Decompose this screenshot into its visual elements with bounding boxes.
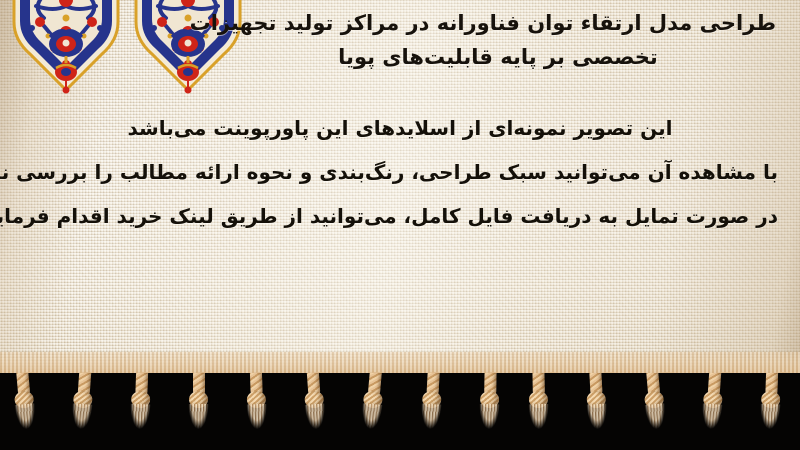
carpet-fringe: [0, 373, 800, 450]
fringe-tassel: [6, 373, 42, 442]
tassel-skirt: [477, 404, 501, 440]
tassel-skirt: [527, 404, 551, 440]
tassel-skirt: [245, 404, 269, 441]
fringe-tassel: [755, 373, 788, 442]
slide-canvas: طراحی مدل ارتقاء توان فناورانه در مراکز …: [0, 0, 800, 450]
fringe-tassel: [184, 373, 214, 441]
fringe-tassel: [415, 373, 449, 442]
tassel-skirt: [303, 403, 328, 441]
body-line-3: در صورت تمایل به دریافت فایل کامل، می‌تو…: [22, 194, 778, 238]
fringe-tassel: [523, 373, 554, 441]
fringe-tassel: [65, 373, 100, 442]
tassel-skirt: [585, 403, 610, 440]
fringe-tassel: [355, 373, 391, 442]
fringe-tassel: [241, 373, 274, 442]
tassel-skirt: [758, 404, 782, 441]
tassel-skirt: [699, 403, 724, 441]
body-line-2: با مشاهده آن می‌توانید سبک طراحی، رنگ‌بن…: [22, 150, 778, 194]
fringe-tassel: [580, 373, 614, 442]
fringe-tassel: [696, 373, 731, 442]
tassel-skirt: [187, 404, 210, 440]
fringe-tassel: [637, 373, 673, 442]
title-line-2: تخصصی بر پایه قابلیت‌های پویا: [220, 40, 776, 74]
body-line-1: این تصویر نمونه‌ای از اسلایدهای این پاور…: [22, 106, 778, 150]
slide-body: این تصویر نمونه‌ای از اسلایدهای این پاور…: [22, 106, 778, 238]
tassel-skirt: [68, 403, 93, 441]
fringe-tassel: [298, 373, 333, 442]
fringe-tassel: [474, 373, 505, 441]
tassel-skirt: [13, 403, 39, 441]
slide-title: طراحی مدل ارتقاء توان فناورانه در مراکز …: [220, 6, 776, 74]
title-line-1: طراحی مدل ارتقاء توان فناورانه در مراکز …: [220, 6, 776, 40]
fringe-tassel: [125, 373, 158, 442]
tassel-skirt: [643, 403, 669, 441]
persian-medallion-motif-left: [10, 0, 122, 100]
tassel-skirt: [358, 403, 384, 441]
tassel-skirt: [418, 403, 443, 440]
tassel-skirt: [128, 404, 152, 441]
